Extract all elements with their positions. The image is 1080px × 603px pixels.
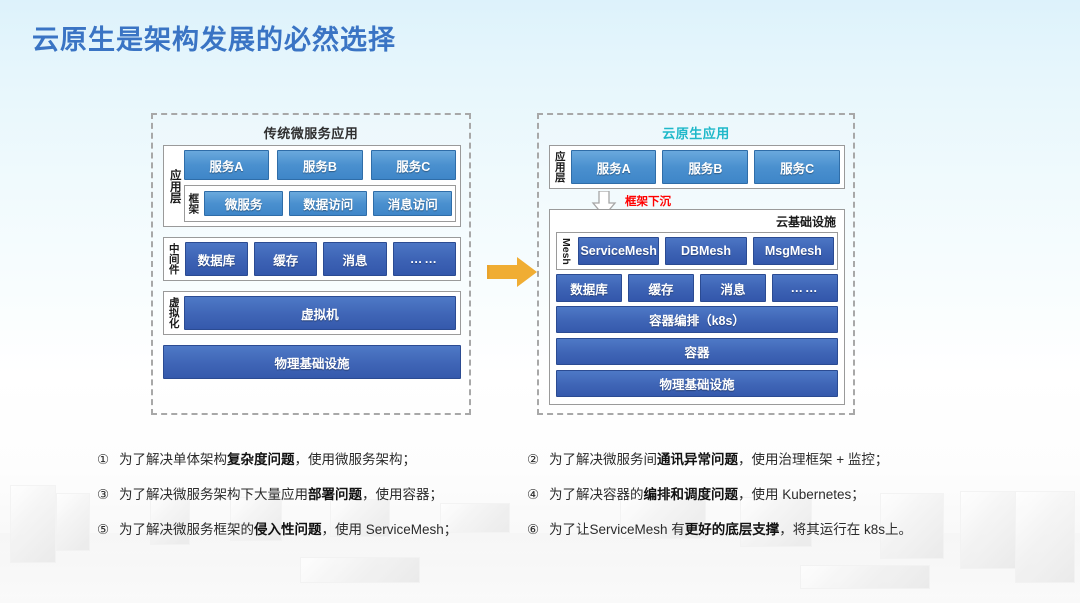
service-b-chip[interactable]: 服务B xyxy=(277,150,362,180)
middleware-database-chip[interactable]: 数据库 xyxy=(185,242,248,276)
bullet-item: ② 为了解决微服务间通讯异常问题，使用治理框架 + 监控； xyxy=(527,448,997,483)
bullet-text: 为了解决微服务框架的侵入性问题，使用 ServiceMesh； xyxy=(119,518,457,538)
cloud-middleware-database-chip[interactable]: 数据库 xyxy=(556,274,622,302)
cloud-native-panel: 云原生应用 应用层 服务A 服务B 服务C 框架下沉 云基础设施 Mesh Se… xyxy=(537,113,855,415)
bullet-column-right: ② 为了解决微服务间通讯异常问题，使用治理框架 + 监控； ④ 为了解决容器的编… xyxy=(527,448,997,553)
cloud-service-a-chip[interactable]: 服务A xyxy=(571,150,657,184)
architecture-diagram: 传统微服务应用 应用层 服务A 服务B 服务C 框架 微服务 数据访问 消息访问 xyxy=(0,105,1080,425)
cloud-application-layer-label: 应用层 xyxy=(554,150,565,184)
middleware-cache-chip[interactable]: 缓存 xyxy=(254,242,317,276)
container-orchestration-chip[interactable]: 容器编排（k8s） xyxy=(556,306,838,333)
msg-mesh-chip[interactable]: MsgMesh xyxy=(753,237,834,265)
page-title: 云原生是架构发展的必然选择 xyxy=(32,18,396,57)
framework-microservice-chip[interactable]: 微服务 xyxy=(204,191,283,216)
bullet-text: 为了解决容器的编排和调度问题，使用 Kubernetes； xyxy=(549,483,865,503)
right-arrow-icon xyxy=(487,255,539,289)
bullet-item: ⑥ 为了让ServiceMesh 有更好的底层支撑，将其运行在 k8s上。 xyxy=(527,518,997,553)
bullet-text: 为了解决微服务架构下大量应用部署问题，使用容器； xyxy=(119,483,443,503)
cloud-middleware-more-chip[interactable]: …… xyxy=(772,274,838,302)
traditional-virtualization-layer: 虚拟化 虚拟机 xyxy=(163,291,461,335)
bullet-list: ① 为了解决单体架构复杂度问题，使用微服务架构； ③ 为了解决微服务架构下大量应… xyxy=(0,448,1080,558)
framework-message-access-chip[interactable]: 消息访问 xyxy=(373,191,452,216)
virtual-machine-chip[interactable]: 虚拟机 xyxy=(184,296,456,330)
cloud-middleware-row: 数据库 缓存 消息 …… xyxy=(556,274,838,302)
bullet-number: ④ xyxy=(527,487,549,503)
traditional-panel: 传统微服务应用 应用层 服务A 服务B 服务C 框架 微服务 数据访问 消息访问 xyxy=(151,113,471,415)
bullet-number: ② xyxy=(527,452,549,468)
bullet-number: ① xyxy=(97,452,119,468)
cloud-infrastructure-box: 云基础设施 Mesh ServiceMesh DBMesh MsgMesh 数据… xyxy=(549,209,845,405)
mesh-label: Mesh xyxy=(560,238,572,265)
service-c-chip[interactable]: 服务C xyxy=(371,150,456,180)
mesh-box: Mesh ServiceMesh DBMesh MsgMesh xyxy=(556,232,838,270)
traditional-services-row: 服务A 服务B 服务C xyxy=(184,150,456,180)
bullet-item: ③ 为了解决微服务架构下大量应用部署问题，使用容器； xyxy=(97,483,527,518)
cloud-service-b-chip[interactable]: 服务B xyxy=(662,150,748,184)
bullet-number: ⑤ xyxy=(97,522,119,538)
application-layer-label: 应用层 xyxy=(168,150,180,222)
container-chip[interactable]: 容器 xyxy=(556,338,838,365)
framework-data-access-chip[interactable]: 数据访问 xyxy=(289,191,368,216)
service-a-chip[interactable]: 服务A xyxy=(184,150,269,180)
traditional-middleware-layer: 中间件 数据库 缓存 消息 …… xyxy=(163,237,461,281)
virtualization-label: 虚拟化 xyxy=(168,296,179,330)
cloud-physical-infrastructure-chip[interactable]: 物理基础设施 xyxy=(556,370,838,397)
middleware-message-chip[interactable]: 消息 xyxy=(323,242,386,276)
framework-label: 框架 xyxy=(188,193,199,214)
bullet-item: ① 为了解决单体架构复杂度问题，使用微服务架构； xyxy=(97,448,527,483)
bullet-column-left: ① 为了解决单体架构复杂度问题，使用微服务架构； ③ 为了解决微服务架构下大量应… xyxy=(97,448,527,553)
cloud-middleware-cache-chip[interactable]: 缓存 xyxy=(628,274,694,302)
traditional-application-layer: 应用层 服务A 服务B 服务C 框架 微服务 数据访问 消息访问 xyxy=(163,145,461,227)
framework-box: 框架 微服务 数据访问 消息访问 xyxy=(184,185,456,222)
middleware-more-chip[interactable]: …… xyxy=(393,242,456,276)
middleware-label: 中间件 xyxy=(168,242,179,276)
cloud-middleware-message-chip[interactable]: 消息 xyxy=(700,274,766,302)
bullet-item: ⑤ 为了解决微服务框架的侵入性问题，使用 ServiceMesh； xyxy=(97,518,527,553)
bullet-text: 为了让ServiceMesh 有更好的底层支撑，将其运行在 k8s上。 xyxy=(549,518,912,538)
cloud-infrastructure-title: 云基础设施 xyxy=(776,213,836,230)
framework-sink-label: 框架下沉 xyxy=(625,193,671,209)
db-mesh-chip[interactable]: DBMesh xyxy=(665,237,746,265)
bullet-text: 为了解决微服务间通讯异常问题，使用治理框架 + 监控； xyxy=(549,448,888,468)
bullet-text: 为了解决单体架构复杂度问题，使用微服务架构； xyxy=(119,448,416,468)
cloud-native-panel-heading: 云原生应用 xyxy=(539,123,853,142)
service-mesh-chip[interactable]: ServiceMesh xyxy=(578,237,659,265)
traditional-physical-infrastructure-chip[interactable]: 物理基础设施 xyxy=(163,345,461,379)
cloud-service-c-chip[interactable]: 服务C xyxy=(754,150,840,184)
bullet-number: ⑥ xyxy=(527,522,549,538)
cloud-application-layer: 应用层 服务A 服务B 服务C xyxy=(549,145,845,189)
bullet-item: ④ 为了解决容器的编排和调度问题，使用 Kubernetes； xyxy=(527,483,997,518)
bullet-number: ③ xyxy=(97,487,119,503)
traditional-panel-heading: 传统微服务应用 xyxy=(153,123,469,142)
